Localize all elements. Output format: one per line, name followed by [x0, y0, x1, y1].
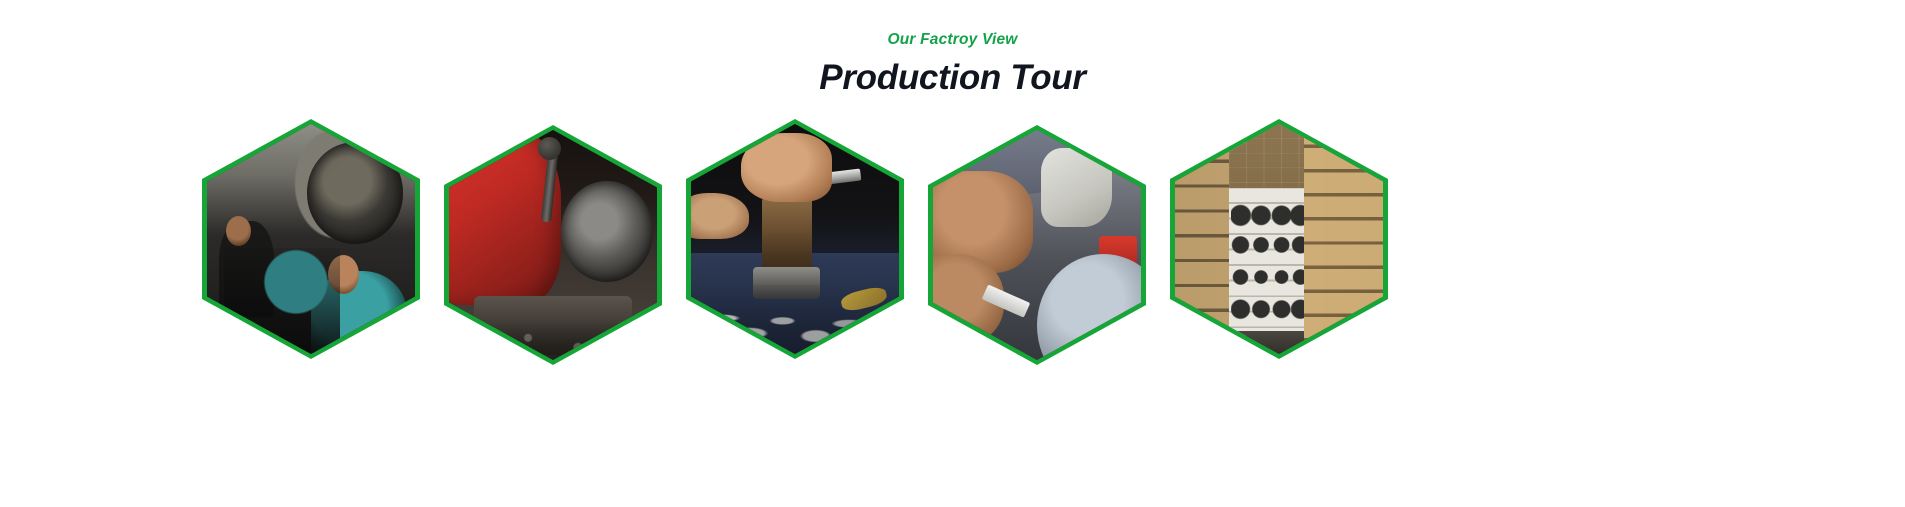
press-worker-foreground [311, 271, 407, 354]
production-tour-gallery [0, 110, 1905, 390]
tour-image-2[interactable] [444, 125, 662, 365]
tour-image-3[interactable] [686, 119, 904, 359]
warehouse-left-rack [1175, 138, 1229, 354]
tour-image-2-frame [449, 130, 657, 360]
tour-image-5[interactable] [1170, 119, 1388, 359]
section-header: Our Factroy View Production Tour [0, 30, 1905, 99]
tour-image-1[interactable] [202, 119, 420, 359]
cloth-shape [1041, 148, 1112, 226]
filing-hand-left [691, 193, 749, 239]
page-title: Production Tour [0, 57, 1905, 99]
production-tour-section: Our Factroy View Production Tour [0, 0, 1905, 507]
tour-image-4[interactable] [928, 125, 1146, 365]
polishing-wheel-photo [933, 130, 1141, 360]
press-worker-background-head [226, 216, 251, 246]
warehouse-storage-photo [1175, 124, 1383, 354]
lathe-machine-photo [449, 130, 657, 360]
grinding-wheel-shape [1037, 254, 1141, 360]
tour-image-5-frame [1175, 124, 1383, 354]
warehouse-ceiling-shape [1212, 124, 1328, 188]
press-worker-foreground-head [328, 255, 359, 294]
warehouse-floor-shape [1175, 331, 1383, 354]
filing-hand-right [741, 133, 833, 202]
wooden-block-shape [762, 198, 812, 276]
tour-image-3-frame [691, 124, 899, 354]
tour-image-4-frame [933, 130, 1141, 360]
metal-chips-shape [449, 323, 657, 360]
press-machine-photo [207, 124, 415, 354]
tour-image-1-frame [207, 124, 415, 354]
scissors-pile-shape [691, 285, 899, 354]
warehouse-box-grid [1231, 202, 1310, 335]
section-eyebrow: Our Factroy View [0, 30, 1905, 50]
hand-filing-photo [691, 124, 899, 354]
lathe-knob-shape [538, 137, 561, 160]
